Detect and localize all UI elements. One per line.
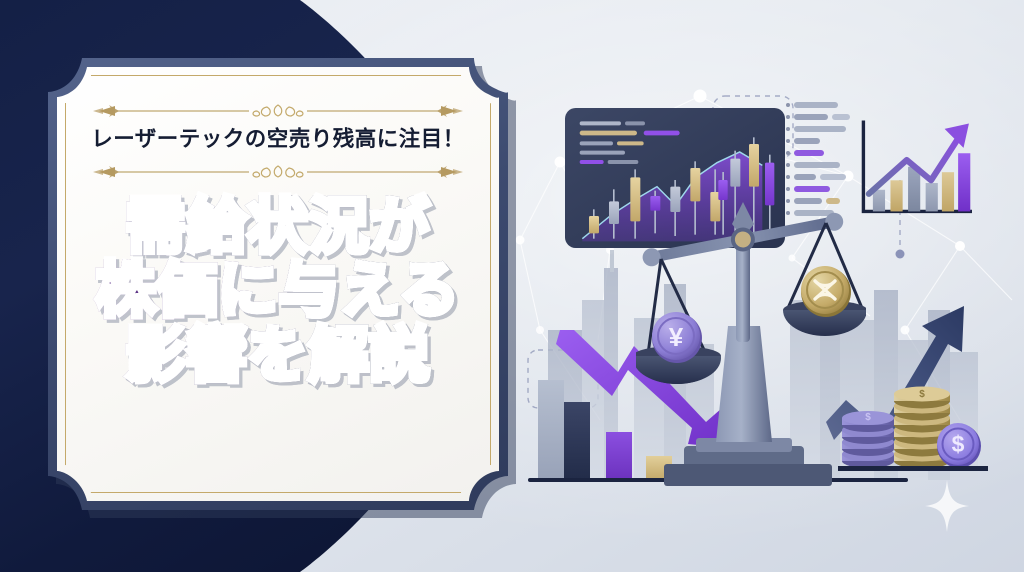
yen-coin: ¥ [652, 312, 702, 363]
svg-text:¥: ¥ [669, 322, 684, 352]
dollar-coin: $ [937, 423, 981, 468]
xrp-coin [801, 266, 851, 317]
thumbnail-canvas: $ $ $ [0, 0, 1024, 572]
card-subtitle: レーザーテックの空売り残高に注目！ [91, 129, 465, 151]
svg-text:$: $ [919, 389, 925, 400]
ornament-divider-bottom [89, 163, 467, 181]
card-headline: 需給状況が 株価に与える 影響を解説 [76, 195, 480, 389]
headline-line-2: 株価に与える [76, 259, 480, 324]
title-card: レーザーテックの空売り残高に注目！ [48, 58, 508, 510]
headline-line-1: 需給状況が [76, 195, 480, 260]
sparkle-icon [925, 480, 969, 532]
svg-text:$: $ [952, 431, 965, 457]
headline-line-3: 影響を解説 [76, 324, 480, 389]
svg-text:$: $ [865, 412, 871, 423]
balance-scale: ¥ [636, 196, 866, 486]
ornament-divider-top [89, 102, 467, 120]
